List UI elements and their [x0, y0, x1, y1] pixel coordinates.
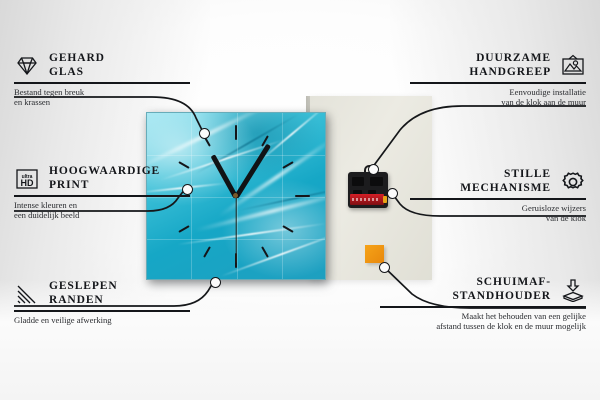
feature-desc: Intense kleuren en een duidelijk beeld [14, 200, 194, 221]
feature-desc: Eenvoudige installatie van de klok aan d… [406, 87, 586, 108]
feature-duurzame-handgreep: DUURZAME HANDGREEP Eenvoudige installati… [406, 52, 586, 108]
feature-desc: Maakt het behouden van een gelijke afsta… [376, 311, 586, 332]
callout-dot-randen [210, 277, 221, 288]
title-line-1: GEHARD [49, 52, 105, 66]
feature-schuimaf-standhouder: SCHUIMAF- STANDHOUDER Maakt het behouden… [376, 276, 586, 332]
title-line-1: DUURZAME [476, 52, 551, 66]
title-line-2: GLAS [49, 66, 105, 80]
divider [410, 198, 586, 200]
feature-title: SCHUIMAF- STANDHOUDER [376, 276, 551, 303]
product-feature-infographic: GEHARD GLAS Bestand tegen breuk en krass… [0, 0, 600, 400]
title-line-2: PRINT [49, 179, 160, 193]
feature-desc: Geruisloze wijzers van de klok [406, 203, 586, 224]
feature-desc: Gladde en veilige afwerking [14, 315, 194, 326]
diamond-icon [14, 54, 40, 78]
press-down-pad-icon [560, 278, 586, 302]
feature-gehard-glas: GEHARD GLAS Bestand tegen breuk en krass… [14, 52, 194, 108]
title-line-1: STILLE [504, 168, 551, 182]
foam-spacer-pad [365, 245, 384, 263]
second-hand [235, 197, 236, 263]
picture-frame-icon [560, 54, 586, 78]
feature-hoogwaardige-print: ultra HD HOOGWAARDIGE PRINT Intense kleu… [14, 165, 194, 221]
title-line-2: RANDEN [49, 294, 118, 308]
feature-title: GEHARD GLAS [49, 52, 105, 79]
ultra-hd-icon: ultra HD [14, 167, 40, 191]
divider [380, 306, 586, 308]
feature-title: DUURZAME HANDGREEP [406, 52, 551, 79]
feature-stille-mechanisme: STILLE MECHANISME Geruisloze wijzers van… [406, 168, 586, 224]
divider [14, 310, 190, 312]
divider [14, 195, 190, 197]
divider [14, 82, 190, 84]
title-line-1: SCHUIMAF- [476, 276, 551, 290]
title-line-1: GESLEPEN [49, 280, 118, 294]
gear-icon [560, 170, 586, 194]
title-line-2: MECHANISME [460, 182, 551, 196]
feature-title: GESLEPEN RANDEN [49, 280, 118, 307]
feature-title: HOOGWAARDIGE PRINT [49, 165, 160, 192]
svg-text:HD: HD [21, 178, 34, 188]
hour-tick [235, 125, 237, 140]
clock-hub [233, 193, 238, 198]
feature-title: STILLE MECHANISME [406, 168, 551, 195]
feature-desc: Bestand tegen breuk en krassen [14, 87, 194, 108]
hour-tick [295, 195, 310, 197]
callout-dot-gehard-glas [199, 128, 210, 139]
title-line-2: STANDHOUDER [452, 290, 551, 304]
title-line-2: HANDGREEP [469, 66, 551, 80]
battery [350, 194, 384, 205]
bevelled-edge-icon [14, 282, 40, 306]
divider [410, 82, 586, 84]
callout-dot-handgreep [368, 164, 379, 175]
title-line-1: HOOGWAARDIGE [49, 165, 160, 179]
callout-dot-standhouder [379, 262, 390, 273]
callout-dot-mechanisme [387, 188, 398, 199]
feature-geslepen-randen: GESLEPEN RANDEN Gladde en veilige afwerk… [14, 280, 194, 325]
